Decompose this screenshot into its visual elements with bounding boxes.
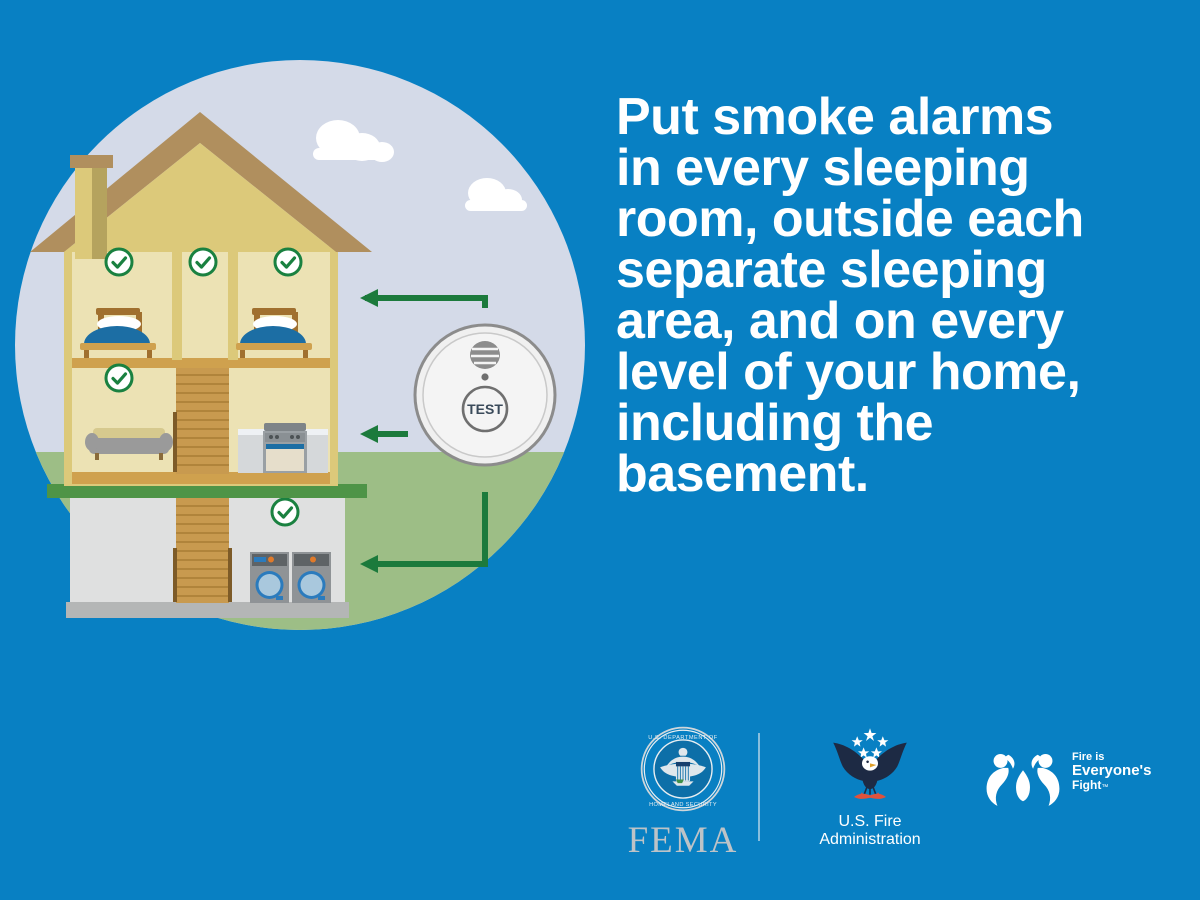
infographic-canvas: TEST Put smoke alarms in every sleeping … [0,0,1200,900]
usfa-eagle-icon [822,725,918,805]
usfa-wordmark: U.S. Fire Administration [790,813,950,849]
living-room-alarm-check-icon [106,365,132,391]
fire-is-everyones-fight-logo: Fire is Everyone's Fight™ [980,747,1170,814]
stars-icon [852,728,889,758]
headline-line: Put smoke alarms [616,92,1156,143]
washer-appliance [250,552,289,603]
logo-divider [758,733,760,841]
dhs-seal-top-text: U.S. DEPARTMENT OF [648,735,718,741]
ground-level-strip [47,484,367,498]
alarm-grille-icon [470,341,500,369]
house-scene-svg: TEST [0,40,600,660]
fief-line2: Everyone's [1072,763,1151,779]
chimney [70,155,113,259]
usfa-logo: U.S. Fire Administration [790,725,950,849]
basement-stairs [173,490,232,603]
headline-line: basement. [616,449,1156,500]
bedroom-right-alarm-check-icon [275,249,301,275]
basement-floor [66,602,349,618]
dhs-seal-icon: U.S. DEPARTMENT OF HOMELAND SECURITY [639,725,727,813]
alarm-test-label: TEST [467,401,503,417]
fief-line3: Fight™ [1072,779,1151,791]
headline-line: level of your home, [616,347,1156,398]
fief-trademark: ™ [1101,784,1108,791]
footer-logos: U.S. DEPARTMENT OF HOMELAND SECURITY FEM… [600,725,1180,870]
interior-wall [172,250,182,360]
bedroom-left-alarm-check-icon [106,249,132,275]
house-illustration: TEST [0,40,600,660]
page-headline: Put smoke alarms in every sleeping room,… [616,92,1156,500]
headline-line: separate sleeping [616,245,1156,296]
dryer-appliance [292,552,331,603]
dhs-seal-bottom-text: HOMELAND SECURITY [649,802,717,808]
headline-line: in every sleeping [616,143,1156,194]
interior-wall [228,250,238,360]
usfa-line2: Administration [819,831,920,848]
headline-line: area, and on every [616,296,1156,347]
hallway-upper-alarm-check-icon [190,249,216,275]
usfa-line1: U.S. Fire [838,813,901,830]
headline-line: including the [616,398,1156,449]
fema-logo: U.S. DEPARTMENT OF HOMELAND SECURITY FEM… [618,725,748,859]
smoke-alarm-device[interactable]: TEST [415,325,555,465]
stove-appliance [263,423,307,473]
fief-wordmark: Fire is Everyone's Fight™ [1072,752,1151,792]
headline-line: room, outside each [616,194,1156,245]
fema-wordmark: FEMA [618,822,748,859]
fief-figures-icon [980,747,1066,809]
alarm-led-icon [481,373,488,380]
main-stairs [173,368,229,474]
basement-alarm-check-icon [272,499,298,525]
